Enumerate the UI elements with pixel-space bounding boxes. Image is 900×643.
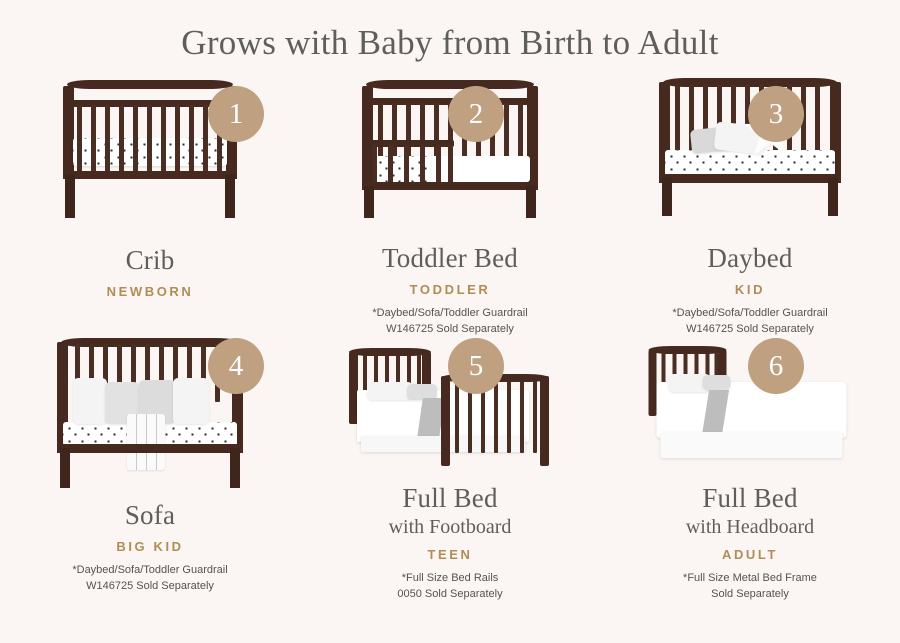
toddler-bed-illustration xyxy=(360,78,540,218)
caption: Sofa BIG KID *Daybed/Sofa/Toddler Guardr… xyxy=(5,500,295,595)
note-line-1: *Full Size Metal Bed Frame xyxy=(605,571,895,587)
pillow-1 xyxy=(73,378,107,424)
page-title: Grows with Baby from Birth to Adult xyxy=(0,0,900,63)
footboard xyxy=(441,374,549,466)
illustration-stage: 5 xyxy=(300,338,600,471)
stage-label: NEWBORN xyxy=(5,284,295,299)
product-subtitle: with Headboard xyxy=(605,515,895,539)
caption: Full Bed with Headboard ADULT *Full Size… xyxy=(605,483,895,603)
daybed-illustration xyxy=(657,78,843,216)
caption: Full Bed with Footboard TEEN *Full Size … xyxy=(305,483,595,603)
step-badge-6: 6 xyxy=(748,338,804,394)
stage-card-full-bed-footboard: 5 xyxy=(300,338,600,603)
stage-card-sofa: 4 xyxy=(0,338,300,603)
note-line-2: 0050 Sold Separately xyxy=(305,587,595,603)
product-stage-grid: 1 xyxy=(0,78,900,603)
product-name: Daybed xyxy=(605,243,895,274)
note-line-1: *Daybed/Sofa/Toddler Guardrail xyxy=(5,563,295,579)
stage-card-daybed: 3 xyxy=(600,78,900,338)
throw-blanket xyxy=(127,414,165,470)
pillow-gray xyxy=(703,375,731,390)
stage-label: BIG KID xyxy=(5,539,295,554)
note-line-1: *Daybed/Sofa/Toddler Guardrail xyxy=(305,306,595,322)
bed-skirt xyxy=(661,432,843,458)
step-badge-3: 3 xyxy=(748,86,804,142)
stage-card-full-bed-headboard: 6 xyxy=(600,338,900,603)
stage-card-toddler-bed: 2 xyxy=(300,78,600,338)
step-badge-2: 2 xyxy=(448,86,504,142)
step-badge-1: 1 xyxy=(208,86,264,142)
product-name: Full Bed xyxy=(305,483,595,514)
caption: Toddler Bed TODDLER *Daybed/Sofa/Toddler… xyxy=(305,243,595,338)
step-badge-5: 5 xyxy=(448,338,504,394)
step-badge-4: 4 xyxy=(208,338,264,394)
note-line-2: W146725 Sold Separately xyxy=(5,579,295,595)
product-subtitle: with Footboard xyxy=(305,515,595,539)
note-line-2: W146725 Sold Separately xyxy=(605,322,895,338)
illustration-stage: 1 xyxy=(0,78,300,233)
product-name: Crib xyxy=(5,245,295,276)
toddler-guardrail xyxy=(370,140,454,182)
stage-label: TODDLER xyxy=(305,282,595,297)
caption: Daybed KID *Daybed/Sofa/Toddler Guardrai… xyxy=(605,243,895,338)
illustration-stage: 2 xyxy=(300,78,600,231)
product-name: Full Bed xyxy=(605,483,895,514)
pillow-4 xyxy=(173,378,209,424)
note-line-2: Sold Separately xyxy=(605,587,895,603)
note-line-1: *Daybed/Sofa/Toddler Guardrail xyxy=(605,306,895,322)
infographic-page: Grows with Baby from Birth to Adult 1 xyxy=(0,0,900,643)
stage-label: TEEN xyxy=(305,547,595,562)
note-line-1: *Full Size Bed Rails xyxy=(305,571,595,587)
stage-label: KID xyxy=(605,282,895,297)
stage-label: ADULT xyxy=(605,547,895,562)
mattress xyxy=(665,150,835,176)
note-line-2: W146725 Sold Separately xyxy=(305,322,595,338)
illustration-stage: 6 xyxy=(600,338,900,471)
caption: Crib NEWBORN xyxy=(5,245,295,299)
product-name: Sofa xyxy=(5,500,295,531)
stage-card-crib: 1 xyxy=(0,78,300,338)
illustration-stage: 4 xyxy=(0,338,300,488)
illustration-stage: 3 xyxy=(600,78,900,231)
product-name: Toddler Bed xyxy=(305,243,595,274)
